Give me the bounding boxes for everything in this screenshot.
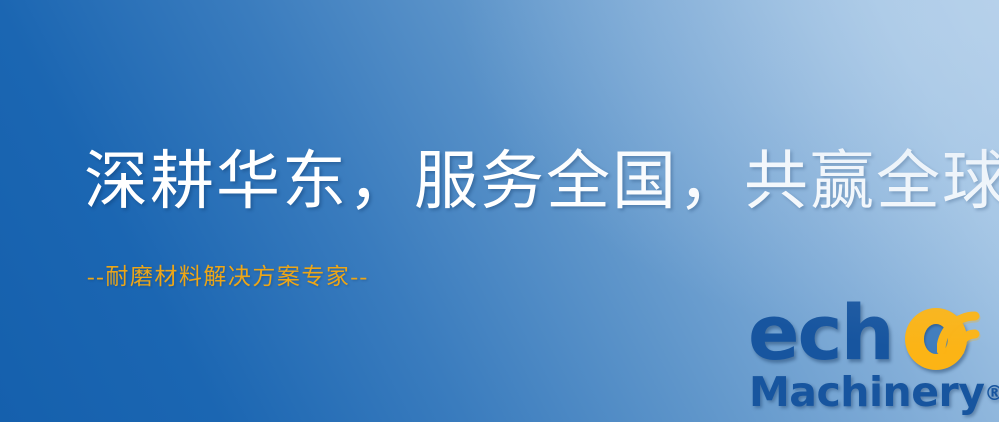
banner-subtitle: --耐磨材料解决方案专家-- [87,265,369,288]
logo-tagline-text: Machinery [749,368,984,416]
logo-wordmark: ech [745,296,999,374]
signal-waves-icon [937,292,999,354]
promo-banner: 深耕华东，服务全国，共赢全球 --耐磨材料解决方案专家-- ech Machin… [0,0,999,422]
echo-machinery-logo[interactable]: ech Machinery® [745,296,999,422]
registered-trademark-mark: ® [984,381,999,405]
logo-tagline: Machinery® [749,368,999,417]
logo-wordmark-text: ech [748,294,893,372]
banner-headline: 深耕华东，服务全国，共赢全球 [84,150,999,214]
